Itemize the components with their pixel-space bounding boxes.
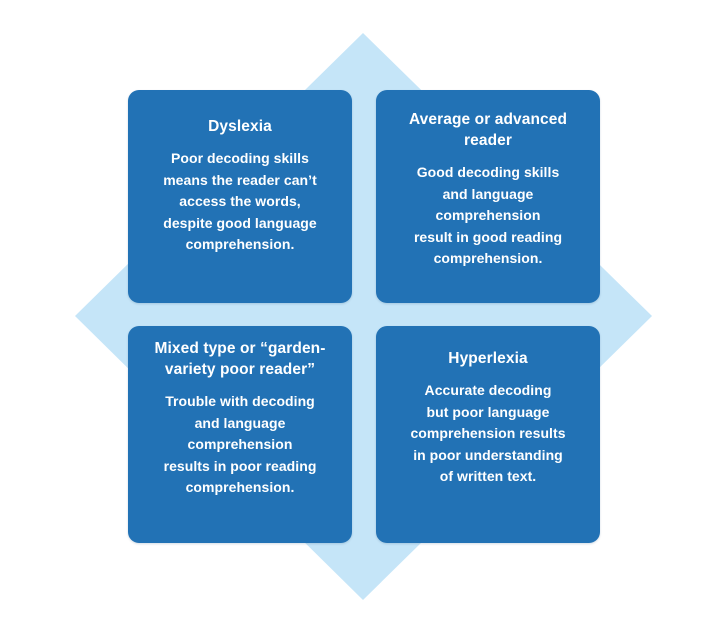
quadrant-body: Poor decoding skills means the reader ca…: [163, 148, 317, 256]
quadrant-card-mixed-type[interactable]: Mixed type or “garden-variety poor reade…: [128, 326, 352, 543]
quadrant-title: Mixed type or “garden-variety poor reade…: [144, 338, 336, 380]
quadrant-card-average-or-advanced-reader[interactable]: Average or advanced reader Good decoding…: [376, 90, 600, 303]
quadrant-body: Good decoding skills and language compre…: [414, 162, 562, 270]
quadrant-body: Trouble with decoding and language compr…: [164, 391, 317, 499]
quadrant-body: Accurate decoding but poor language comp…: [410, 380, 565, 488]
quadrant-grid: Dyslexia Poor decoding skills means the …: [128, 90, 600, 543]
quadrant-title: Dyslexia: [208, 116, 272, 137]
quadrant-card-dyslexia[interactable]: Dyslexia Poor decoding skills means the …: [128, 90, 352, 303]
quadrant-card-hyperlexia[interactable]: Hyperlexia Accurate decoding but poor la…: [376, 326, 600, 543]
quadrant-title: Hyperlexia: [448, 348, 527, 369]
quadrant-title: Average or advanced reader: [392, 109, 584, 151]
reading-quadrant-diagram: Dyslexia Poor decoding skills means the …: [0, 0, 720, 635]
